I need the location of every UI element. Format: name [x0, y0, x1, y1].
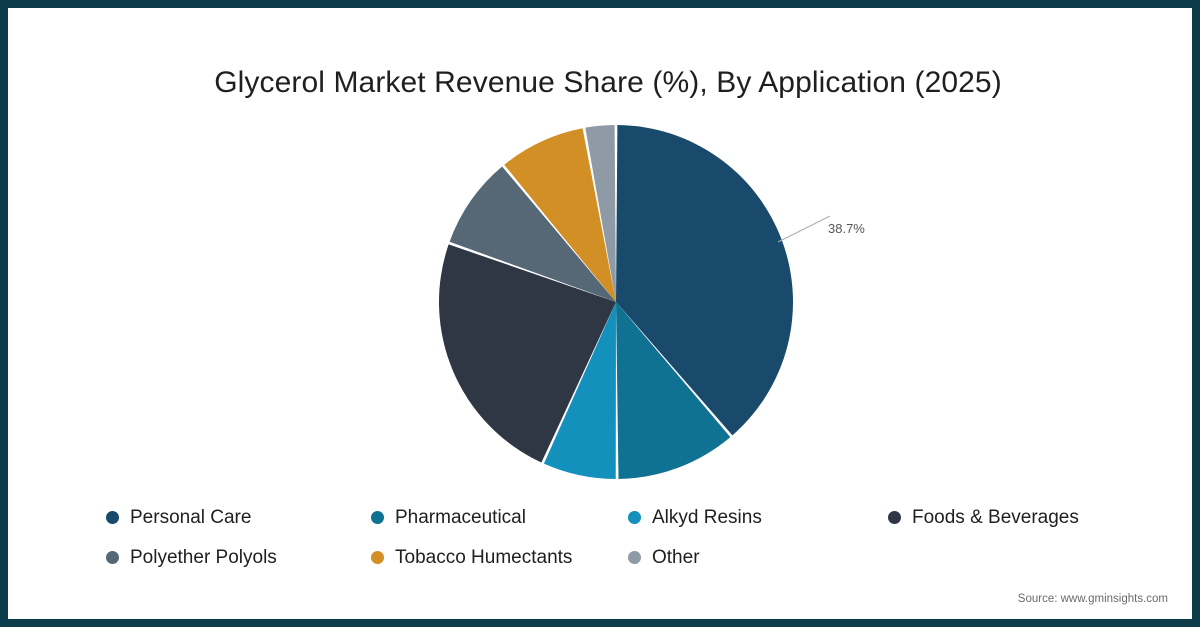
legend-item-alkyd-resins[interactable]: Alkyd Resins: [628, 500, 762, 534]
legend-item-label: Alkyd Resins: [652, 508, 762, 527]
legend-item-label: Foods & Beverages: [912, 508, 1079, 527]
legend-item-label: Tobacco Humectants: [395, 548, 572, 567]
legend-item-polyether-polyols[interactable]: Polyether Polyols: [106, 540, 277, 574]
legend-item-label: Polyether Polyols: [130, 548, 277, 567]
legend-swatch-icon: [888, 511, 901, 524]
slice-data-label-personal-care: 38.7%: [828, 221, 865, 236]
legend-item-label: Other: [652, 548, 700, 567]
legend-item-tobacco-humectants[interactable]: Tobacco Humectants: [371, 540, 572, 574]
legend-item-other[interactable]: Other: [628, 540, 700, 574]
source-attribution: Source: www.gminsights.com: [1018, 593, 1168, 605]
pie-chart-svg: [416, 102, 816, 502]
chart-frame: Glycerol Market Revenue Share (%), By Ap…: [0, 0, 1200, 627]
legend-row: Polyether PolyolsTobacco HumectantsOther: [8, 540, 1200, 574]
pie-chart: [416, 102, 816, 502]
legend-item-pharmaceutical[interactable]: Pharmaceutical: [371, 500, 526, 534]
legend-swatch-icon: [628, 511, 641, 524]
legend-swatch-icon: [371, 511, 384, 524]
legend-item-label: Pharmaceutical: [395, 508, 526, 527]
legend-item-foods-and-beverages[interactable]: Foods & Beverages: [888, 500, 1079, 534]
chart-legend: Personal CarePharmaceuticalAlkyd ResinsF…: [8, 500, 1200, 580]
legend-swatch-icon: [106, 511, 119, 524]
legend-item-label: Personal Care: [130, 508, 251, 527]
legend-item-personal-care[interactable]: Personal Care: [106, 500, 251, 534]
legend-swatch-icon: [106, 551, 119, 564]
legend-swatch-icon: [371, 551, 384, 564]
page-title: Glycerol Market Revenue Share (%), By Ap…: [8, 66, 1200, 100]
legend-row: Personal CarePharmaceuticalAlkyd ResinsF…: [8, 500, 1200, 534]
pie-slice-group: [439, 125, 793, 479]
legend-swatch-icon: [628, 551, 641, 564]
